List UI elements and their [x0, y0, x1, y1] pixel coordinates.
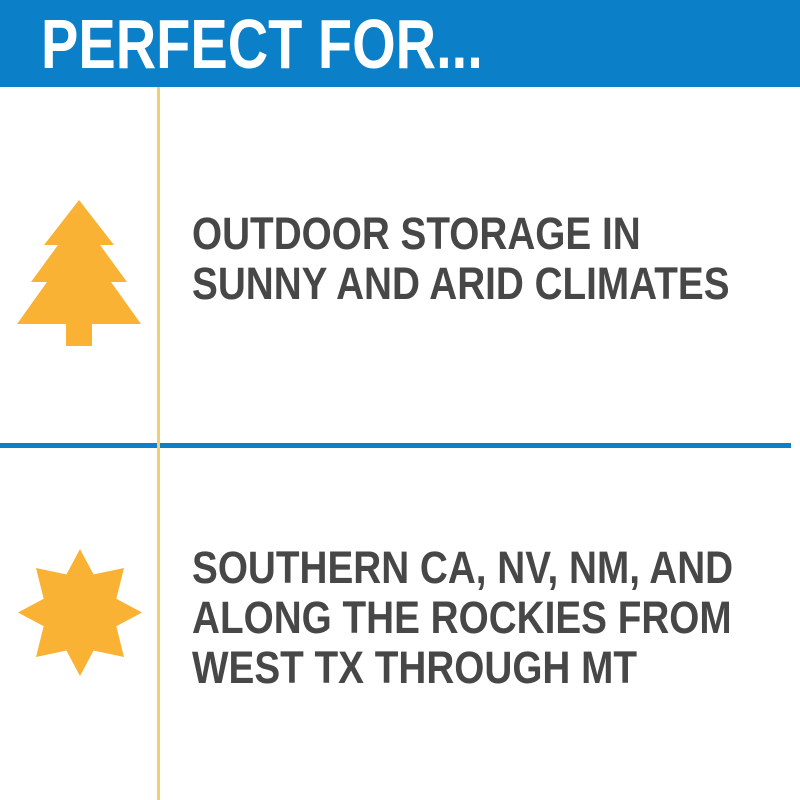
section-1-line-2: SUNNY AND ARID CLIMATES — [192, 259, 730, 309]
sun-icon — [18, 549, 142, 676]
section-2-text: SOUTHERN CA, NV, NM, AND ALONG THE ROCKI… — [192, 543, 733, 693]
section-2-line-3: WEST TX THROUGH MT — [192, 643, 733, 693]
section-1-line-1: OUTDOOR STORAGE IN — [192, 209, 730, 259]
perfect-for-infographic: PERFECT FOR... OUTDOOR STORAGE IN SUNNY … — [0, 0, 800, 800]
section-2-line-2: ALONG THE ROCKIES FROM — [192, 593, 733, 643]
section-1-text: OUTDOOR STORAGE IN SUNNY AND ARID CLIMAT… — [192, 209, 730, 309]
header-bar: PERFECT FOR... — [0, 0, 800, 87]
text-column-1: OUTDOOR STORAGE IN SUNNY AND ARID CLIMAT… — [160, 87, 800, 443]
section-regions: SOUTHERN CA, NV, NM, AND ALONG THE ROCKI… — [0, 448, 800, 800]
icon-column-1 — [0, 87, 157, 443]
section-2-line-1: SOUTHERN CA, NV, NM, AND — [192, 543, 733, 593]
text-column-2: SOUTHERN CA, NV, NM, AND ALONG THE ROCKI… — [160, 448, 800, 800]
section-divider-horizontal — [0, 443, 791, 448]
icon-column-2 — [0, 448, 157, 800]
section-outdoor-storage: OUTDOOR STORAGE IN SUNNY AND ARID CLIMAT… — [0, 87, 800, 443]
page-title: PERFECT FOR... — [41, 6, 483, 82]
column-divider-vertical — [157, 87, 160, 800]
pine-tree-icon — [17, 200, 141, 346]
